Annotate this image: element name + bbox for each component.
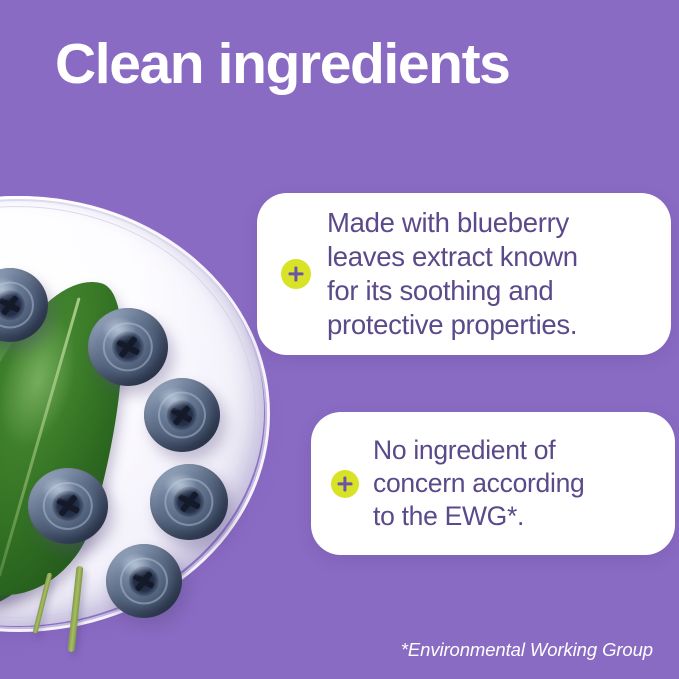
footnote: *Environmental Working Group	[401, 639, 653, 661]
plus-icon	[281, 259, 311, 289]
blueberry-calyx	[167, 400, 197, 430]
blueberry	[150, 464, 228, 540]
infographic-canvas: Clean ingredients Made with blueberry le…	[0, 0, 679, 679]
blueberry-calyx	[112, 331, 144, 362]
page-title: Clean ingredients	[55, 33, 509, 96]
product-photo	[0, 0, 300, 679]
blueberry	[28, 468, 108, 544]
benefit-card-text: Made with blueberry leaves extract known…	[327, 206, 578, 342]
blueberry	[106, 544, 182, 618]
benefit-card-ewg: No ingredient of concern according to th…	[311, 412, 675, 555]
benefit-card-ingredients: Made with blueberry leaves extract known…	[257, 193, 671, 355]
blueberry-calyx	[129, 566, 159, 596]
plus-icon-vertical-bar	[294, 267, 297, 282]
plus-icon-vertical-bar	[343, 476, 346, 491]
plus-icon	[331, 470, 359, 498]
blueberry	[144, 378, 220, 452]
benefit-card-text: No ingredient of concern according to th…	[373, 434, 584, 533]
blueberry	[88, 308, 168, 386]
